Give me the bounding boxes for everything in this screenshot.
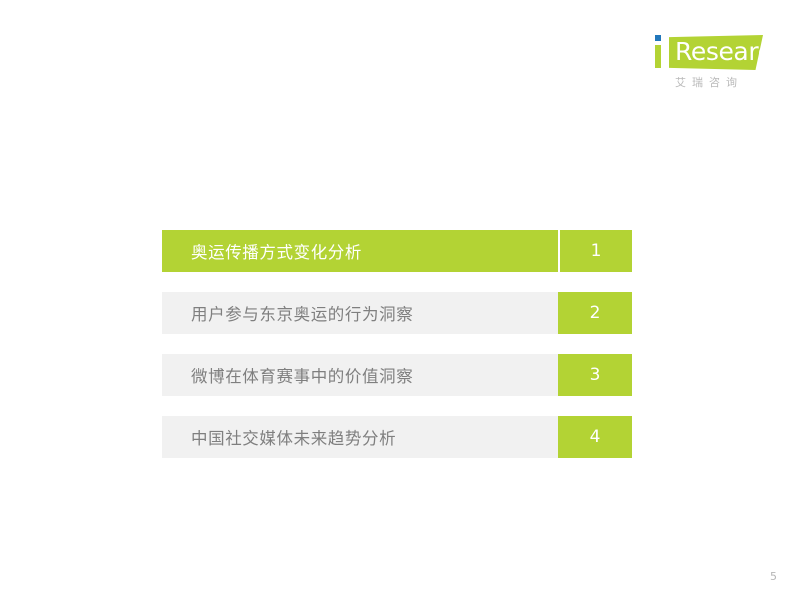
agenda-item-3-number: 3 (558, 354, 632, 396)
agenda-item-2[interactable]: 用户参与东京奥运的行为洞察 2 (162, 292, 632, 334)
logo-wordmark: Research (675, 37, 786, 67)
logo-letter-i-stem-icon (655, 45, 661, 68)
logo-letter-i-dot-icon (655, 35, 661, 41)
logo-mark: Research (651, 32, 763, 72)
agenda-item-3[interactable]: 微博在体育赛事中的价值洞察 3 (162, 354, 632, 396)
logo-subtitle: 艾瑞咨询 (655, 74, 763, 90)
agenda-item-4-label: 中国社交媒体未来趋势分析 (162, 416, 558, 458)
agenda-item-2-label: 用户参与东京奥运的行为洞察 (162, 292, 558, 334)
agenda-item-1-number: 1 (558, 230, 632, 272)
agenda-item-4-number: 4 (558, 416, 632, 458)
agenda-item-1-label: 奥运传播方式变化分析 (162, 230, 558, 272)
agenda-item-1[interactable]: 奥运传播方式变化分析 1 (162, 230, 632, 272)
agenda-item-2-number: 2 (558, 292, 632, 334)
agenda-item-4[interactable]: 中国社交媒体未来趋势分析 4 (162, 416, 632, 458)
agenda-item-3-label: 微博在体育赛事中的价值洞察 (162, 354, 558, 396)
iresearch-logo: Research 艾瑞咨询 (651, 32, 763, 94)
agenda-list: 奥运传播方式变化分析 1 用户参与东京奥运的行为洞察 2 微博在体育赛事中的价值… (162, 230, 632, 458)
page-number: 5 (770, 570, 777, 583)
